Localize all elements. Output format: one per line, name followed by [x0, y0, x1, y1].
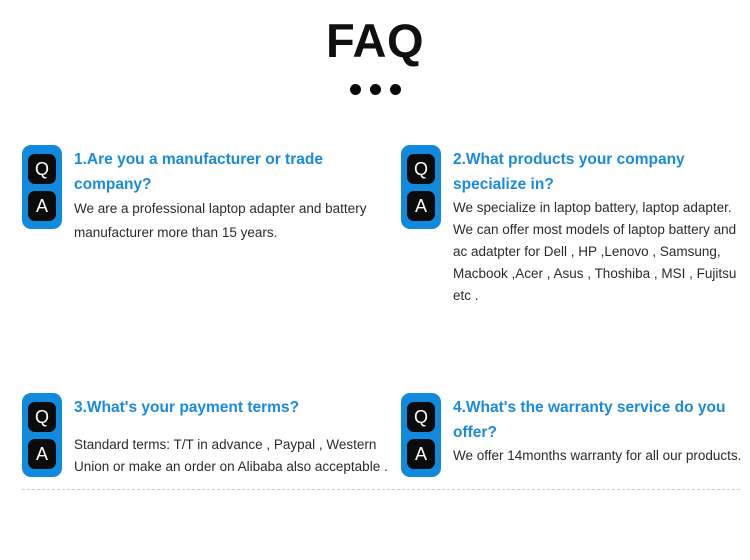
qa-badge-icon-1: Q A — [22, 145, 62, 229]
faq-answer-3: Standard terms: T/T in advance , Paypal … — [74, 434, 393, 478]
faq-item-1-text: 1.Are you a manufacturer or trade compan… — [62, 145, 393, 245]
faq-item-3-text: 3.What's your payment terms? Standard te… — [62, 393, 393, 478]
faq-question-1: 1.Are you a manufacturer or trade compan… — [74, 145, 393, 197]
answer-letter-icon-4: A — [407, 439, 435, 469]
faq-row-2: Q A 3.What's your payment terms? Standar… — [0, 393, 750, 478]
faq-question-3: 3.What's your payment terms? — [74, 393, 393, 420]
answer-letter-icon-3: A — [28, 439, 56, 469]
faq-grid: Q A 1.Are you a manufacturer or trade co… — [0, 145, 750, 307]
faq-header: FAQ — [0, 0, 750, 95]
faq-item-2: Q A 2.What products your company special… — [393, 145, 750, 307]
question-letter-icon-2: Q — [407, 154, 435, 184]
faq-item-3: Q A 3.What's your payment terms? Standar… — [0, 393, 393, 478]
answer-letter-icon-2: A — [407, 191, 435, 221]
section-divider — [22, 489, 740, 490]
faq-question-4: 4.What's the warranty service do you off… — [453, 393, 750, 445]
faq-answer-4: We offer 14months warranty for all our p… — [453, 445, 750, 467]
faq-item-4: Q A 4.What's the warranty service do you… — [393, 393, 750, 477]
question-letter-icon-4: Q — [407, 402, 435, 432]
decorative-dot-3 — [390, 84, 401, 95]
faq-row-1: Q A 1.Are you a manufacturer or trade co… — [0, 145, 750, 307]
faq-item-4-text: 4.What's the warranty service do you off… — [441, 393, 750, 467]
question-letter-icon-3: Q — [28, 402, 56, 432]
decorative-dot-1 — [350, 84, 361, 95]
qa-badge-icon-4: Q A — [401, 393, 441, 477]
faq-answer-2: We specialize in laptop battery, laptop … — [453, 197, 750, 307]
answer-letter-icon-1: A — [28, 191, 56, 221]
faq-answer-1: We are a professional laptop adapter and… — [74, 197, 393, 245]
question-letter-icon-1: Q — [28, 154, 56, 184]
faq-item-2-text: 2.What products your company specialize … — [441, 145, 750, 307]
faq-question-2: 2.What products your company specialize … — [453, 145, 750, 197]
faq-item-1: Q A 1.Are you a manufacturer or trade co… — [0, 145, 393, 245]
decorative-dots-row — [0, 84, 750, 95]
qa-badge-icon-2: Q A — [401, 145, 441, 229]
decorative-dot-2 — [370, 84, 381, 95]
faq-page: FAQ Q A 1.Are you a manufacturer or trad… — [0, 0, 750, 560]
page-title: FAQ — [0, 14, 750, 68]
qa-badge-icon-3: Q A — [22, 393, 62, 477]
